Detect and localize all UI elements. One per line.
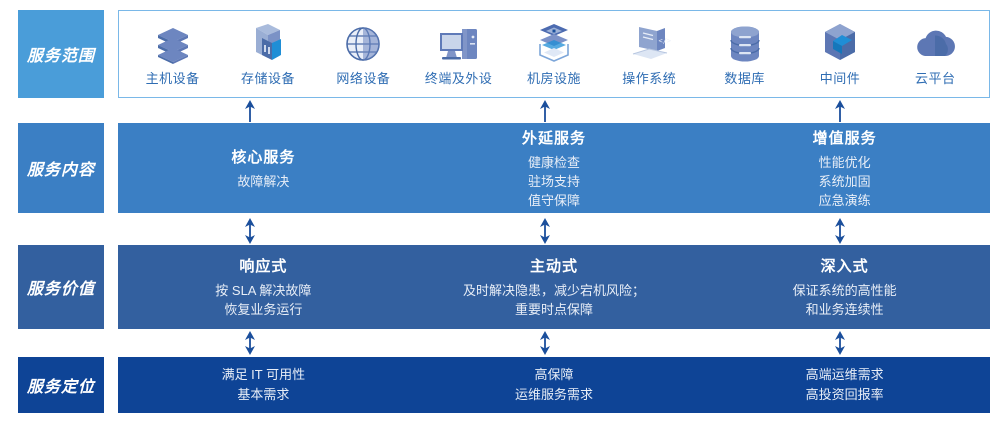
globe-network-icon (343, 22, 383, 64)
service-content-column-line: 性能优化 (819, 153, 871, 172)
service-content-column-line: 故障解决 (237, 172, 289, 191)
service-content-column-line: 值守保障 (528, 191, 580, 210)
category-label-text: 服务内容 (27, 156, 95, 180)
storage-array-icon (248, 22, 288, 64)
panel-service-content: 核心服务故障解决外延服务健康检查驻场支持值守保障增值服务性能优化系统加固应急演练 (118, 123, 990, 213)
scope-item-4[interactable]: 终端及外设 (411, 22, 506, 87)
service-value-column-line: 保证系统的高性能 (793, 281, 897, 300)
service-content-column-line: 系统加固 (819, 172, 871, 191)
service-positioning-column-1[interactable]: 满足 IT 可用性基本需求 (118, 365, 409, 405)
service-framework-diagram: 服务范围 主机设备 存储设备 (0, 0, 1000, 424)
scope-item-8[interactable]: 中间件 (792, 22, 887, 87)
scope-item-label: 网络设备 (336, 68, 390, 87)
scope-item-2[interactable]: 存储设备 (220, 22, 315, 87)
service-value-column-title: 主动式 (530, 255, 578, 276)
scope-item-7[interactable]: 数据库 (697, 22, 792, 87)
service-value-column-title: 深入式 (821, 255, 869, 276)
service-content-column-line: 健康检查 (528, 153, 580, 172)
category-label-service-content: 服务内容 (18, 123, 104, 213)
category-label-text: 服务范围 (27, 42, 95, 66)
scope-item-label: 云平台 (915, 68, 956, 87)
service-content-column-2[interactable]: 外延服务健康检查驻场支持值守保障 (409, 127, 700, 210)
scope-item-label: 存储设备 (241, 68, 295, 87)
service-value-column-line: 重要时点保障 (515, 300, 593, 319)
service-content-column-1[interactable]: 核心服务故障解决 (118, 146, 409, 191)
desktop-terminal-icon (437, 22, 481, 64)
service-content-column-title: 外延服务 (522, 127, 586, 148)
middleware-cube-icon (820, 22, 860, 64)
connector-up-col3 (832, 100, 848, 122)
category-label-service-positioning: 服务定位 (18, 357, 104, 413)
connector-both-col1 (242, 218, 258, 244)
panel-service-value: 响应式按 SLA 解决故障恢复业务运行主动式及时解决隐患，减少宕机风险；重要时点… (118, 245, 990, 329)
service-positioning-column-line: 基本需求 (237, 385, 289, 405)
connector-both2-col1 (242, 331, 258, 355)
connector-both-col2 (537, 218, 553, 244)
database-icon (726, 22, 764, 64)
scope-item-label: 中间件 (820, 68, 861, 87)
panel-service-positioning: 满足 IT 可用性基本需求高保障运维服务需求高端运维需求高投资回报率 (118, 357, 990, 413)
scope-item-label: 机房设施 (527, 68, 581, 87)
connector-both-col3 (832, 218, 848, 244)
svg-text:</>: </> (659, 37, 672, 45)
category-label-service-value: 服务价值 (18, 245, 104, 329)
service-positioning-column-line: 高端运维需求 (806, 365, 884, 385)
scope-item-9[interactable]: 云平台 (888, 22, 983, 87)
service-content-column-line: 应急演练 (819, 191, 871, 210)
connector-both2-col2 (537, 331, 553, 355)
service-positioning-column-line: 满足 IT 可用性 (222, 365, 306, 385)
scope-item-label: 操作系统 (622, 68, 676, 87)
scope-item-3[interactable]: 网络设备 (316, 22, 411, 87)
scope-item-label: 终端及外设 (425, 68, 493, 87)
service-positioning-column-line: 高投资回报率 (806, 385, 884, 405)
service-value-column-3[interactable]: 深入式保证系统的高性能和业务连续性 (699, 255, 990, 319)
column-group-service-positioning: 满足 IT 可用性基本需求高保障运维服务需求高端运维需求高投资回报率 (118, 357, 990, 413)
cloud-platform-icon (913, 22, 957, 64)
service-value-column-line: 及时解决隐患，减少宕机风险； (463, 281, 645, 300)
scope-item-6[interactable]: </> 操作系统 (602, 22, 697, 87)
operating-system-icon: </> (627, 22, 671, 64)
service-value-column-1[interactable]: 响应式按 SLA 解决故障恢复业务运行 (118, 255, 409, 319)
category-label-text: 服务定位 (27, 373, 95, 397)
connector-both2-col3 (832, 331, 848, 355)
connector-up-col2 (537, 100, 553, 122)
column-group-service-content: 核心服务故障解决外延服务健康检查驻场支持值守保障增值服务性能优化系统加固应急演练 (118, 123, 990, 213)
service-content-column-title: 增值服务 (813, 127, 877, 148)
panel-service-scope: 主机设备 存储设备 网络设备 终端及外设 (118, 10, 990, 98)
data-center-icon (532, 22, 576, 64)
service-content-column-line: 驻场支持 (528, 172, 580, 191)
server-stack-icon (153, 22, 193, 64)
category-label-service-scope: 服务范围 (18, 10, 104, 98)
service-value-column-line: 和业务连续性 (806, 300, 884, 319)
icon-strip: 主机设备 存储设备 网络设备 终端及外设 (119, 11, 989, 97)
service-content-column-title: 核心服务 (231, 146, 295, 167)
connector-up-col1 (242, 100, 258, 122)
scope-item-5[interactable]: 机房设施 (506, 22, 601, 87)
category-label-text: 服务价值 (27, 275, 95, 299)
service-positioning-column-2[interactable]: 高保障运维服务需求 (409, 365, 700, 405)
scope-item-1[interactable]: 主机设备 (125, 22, 220, 87)
service-value-column-title: 响应式 (239, 255, 287, 276)
service-positioning-column-line: 运维服务需求 (515, 385, 593, 405)
service-content-column-3[interactable]: 增值服务性能优化系统加固应急演练 (699, 127, 990, 210)
scope-item-label: 主机设备 (146, 68, 200, 87)
service-positioning-column-3[interactable]: 高端运维需求高投资回报率 (699, 365, 990, 405)
service-positioning-column-line: 高保障 (535, 365, 574, 385)
service-value-column-line: 恢复业务运行 (224, 300, 302, 319)
service-value-column-2[interactable]: 主动式及时解决隐患，减少宕机风险；重要时点保障 (409, 255, 700, 319)
service-value-column-line: 按 SLA 解决故障 (215, 281, 311, 300)
scope-item-label: 数据库 (724, 68, 765, 87)
column-group-service-value: 响应式按 SLA 解决故障恢复业务运行主动式及时解决隐患，减少宕机风险；重要时点… (118, 245, 990, 329)
